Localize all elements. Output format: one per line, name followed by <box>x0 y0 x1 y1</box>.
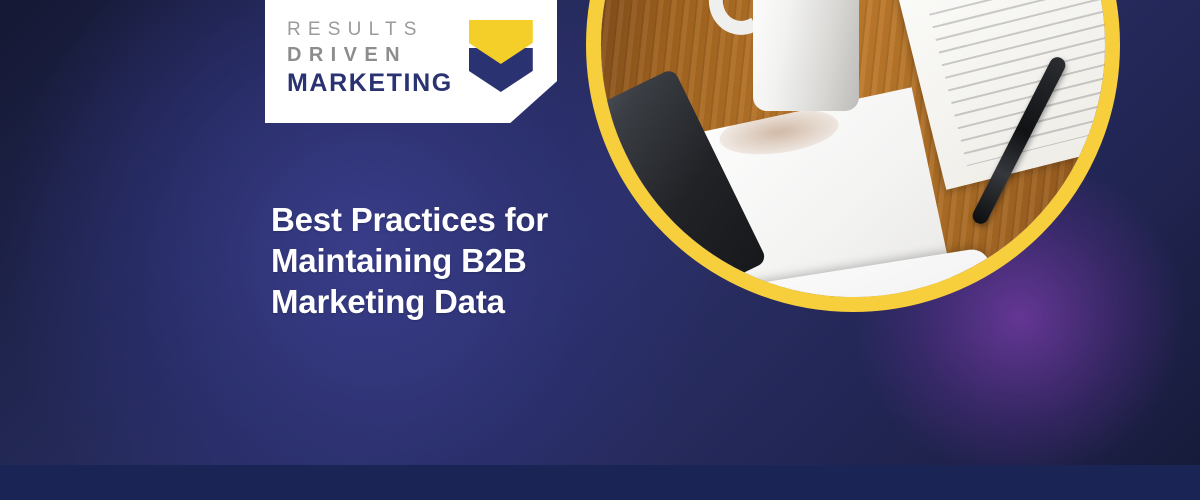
page-title-line-2: Maintaining B2B <box>271 240 691 281</box>
logo-line-results: RESULTS <box>287 20 453 39</box>
logo-line-driven: DRIVEN <box>287 45 453 65</box>
logo-plate[interactable]: RESULTS DRIVEN MARKETING <box>265 0 557 123</box>
double-chevron-logo-mark-icon <box>469 20 533 98</box>
coffee-mug <box>753 0 859 111</box>
marketing-banner: RESULTS DRIVEN MARKETING Best Practices … <box>0 0 1200 500</box>
keyboard-key <box>805 296 846 297</box>
logo-wordmark: RESULTS DRIVEN MARKETING <box>287 20 453 96</box>
page-title-line-1: Best Practices for <box>271 199 691 240</box>
logo: RESULTS DRIVEN MARKETING <box>287 18 533 98</box>
page-title-line-3: Marketing Data <box>271 281 691 322</box>
bottom-bar <box>0 465 1200 500</box>
page-title: Best Practices for Maintaining B2B Marke… <box>271 199 691 322</box>
logo-line-marketing: MARKETING <box>287 71 453 96</box>
